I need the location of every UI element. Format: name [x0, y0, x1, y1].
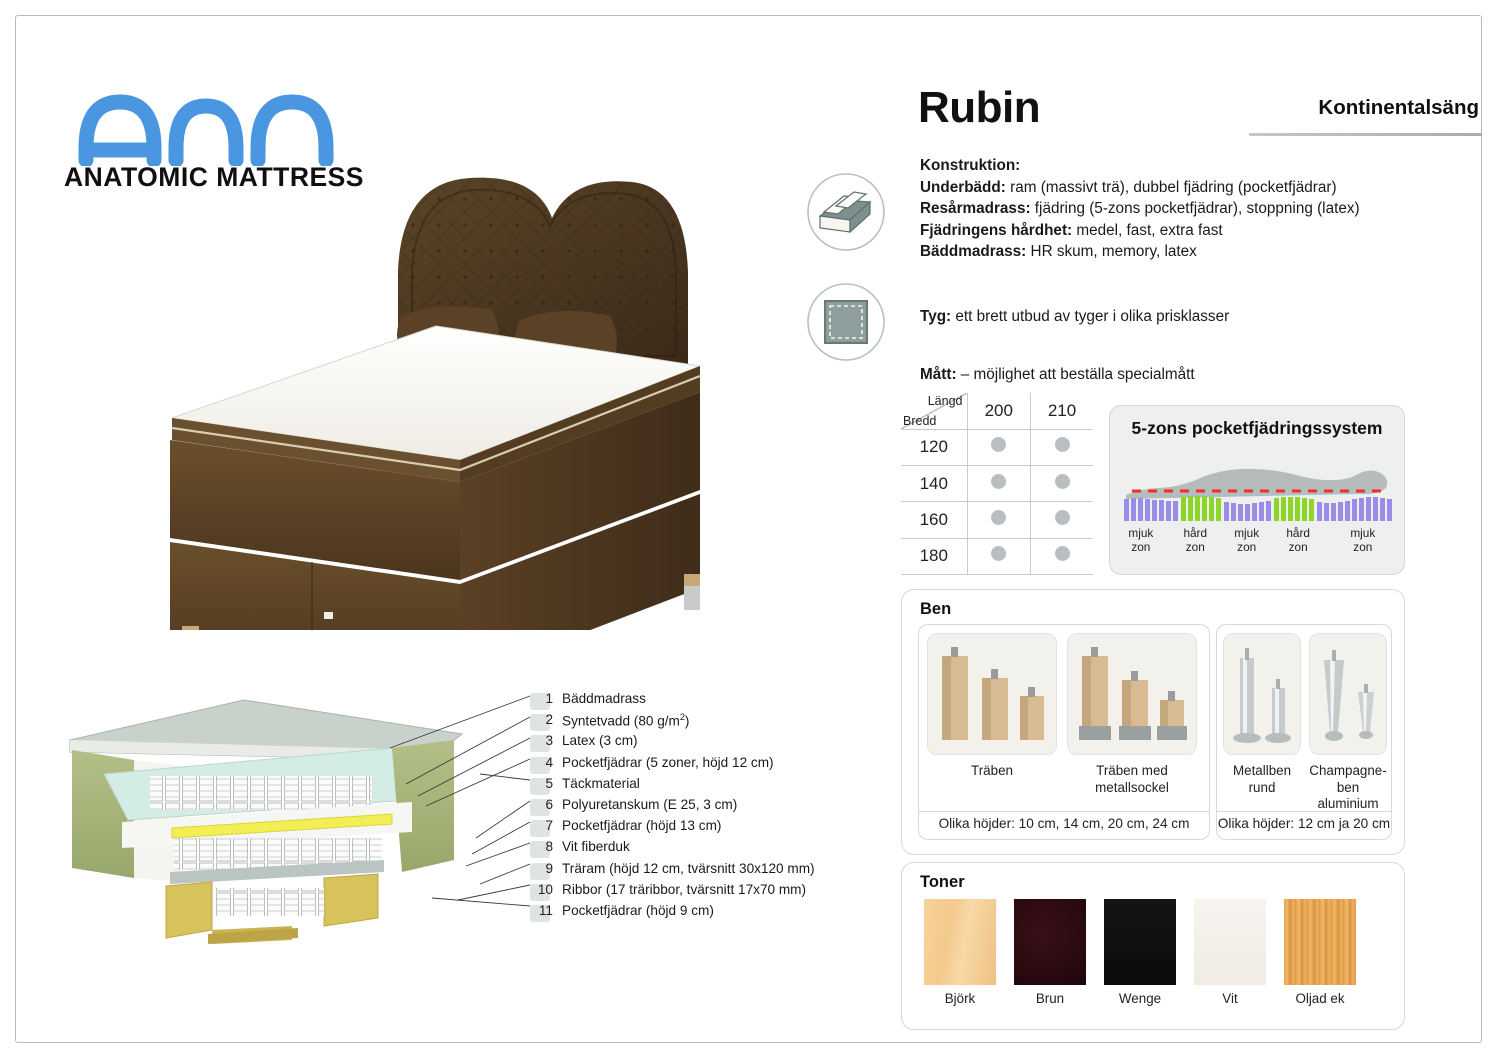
legend-number: 11 — [531, 903, 553, 918]
legend-text: Vit fiberduk — [562, 839, 630, 854]
five-zone-spring-panel: 5-zons pocketfjädringssystem — [1109, 405, 1405, 575]
spec-label: Bäddmadrass: — [920, 243, 1026, 260]
construction-heading: Konstruktion: — [920, 157, 1020, 174]
list-item: 8 Vit fiberduk — [531, 836, 891, 857]
tone-swatch — [1104, 899, 1176, 985]
zone-name: mjuk — [1234, 526, 1259, 540]
list-item: 4 Pocketfjädrar (5 zoner, höjd 12 cm) — [531, 752, 891, 773]
legend-number: 6 — [531, 797, 553, 812]
mattress-cutaway-diagram — [62, 682, 532, 972]
measures-spec: Mått: – möjlighet att beställa specialmå… — [920, 366, 1195, 384]
list-item: 2 Syntetvadd (80 g/m2) — [531, 709, 891, 730]
legend-text: Pocketfjädrar (höjd 13 cm) — [562, 818, 721, 833]
category-underline — [1249, 133, 1482, 136]
tone-swatch — [1194, 899, 1266, 985]
fabric-swatch-icon — [806, 282, 886, 362]
legend-text: Bäddmadrass — [562, 691, 646, 706]
cell-180-210 — [1031, 538, 1093, 574]
col-header-200: 200 — [967, 393, 1031, 429]
availability-dot — [1055, 474, 1070, 489]
row-label-140: 140 — [901, 466, 967, 502]
spring-bars — [1124, 496, 1392, 521]
zone-sub: zon — [1131, 540, 1150, 554]
tone-item-vit[interactable]: Vit — [1194, 899, 1266, 1006]
tone-label: Vit — [1194, 991, 1266, 1006]
cell-180-200 — [967, 538, 1031, 574]
tone-item-oljad-ek[interactable]: Oljad ek — [1284, 899, 1356, 1006]
legend-number: 3 — [531, 733, 553, 748]
zone-label-5: mjuk zon — [1322, 527, 1404, 554]
availability-dot — [1055, 437, 1070, 452]
leg-caption: Träben — [927, 763, 1057, 780]
legend-text: Pocketfjädrar (höjd 9 cm) — [562, 903, 714, 918]
length-header: Längd — [928, 394, 963, 408]
availability-dot — [1055, 546, 1070, 561]
legend-number: 9 — [531, 861, 553, 876]
cell-140-210 — [1031, 466, 1093, 502]
leg-caption-line: Träben med — [1096, 763, 1168, 778]
legend-number: 4 — [531, 755, 553, 770]
leg-caption: Champagne- ben aluminium — [1309, 763, 1387, 813]
tone-label: Björk — [924, 991, 996, 1006]
champagne-aluminium-leg-icon — [1309, 633, 1387, 755]
cell-140-200 — [967, 466, 1031, 502]
tone-swatch — [1284, 899, 1356, 985]
list-item: 10 Ribbor (17 träribbor, tvärsnitt 17x70… — [531, 879, 891, 900]
tone-swatch — [1014, 899, 1086, 985]
list-item: 6 Polyuretanskum (E 25, 3 cm) — [531, 794, 891, 815]
legs-heading: Ben — [920, 600, 1404, 619]
table-corner-cell: Längd Bredd — [901, 393, 967, 429]
legend-text: Latex (3 cm) — [562, 733, 638, 748]
tone-swatch — [924, 899, 996, 985]
legend-number: 1 — [531, 691, 553, 706]
spec-value: HR skum, memory, latex — [1031, 243, 1197, 260]
legend-text: Pocketfjädrar (5 zoner, höjd 12 cm) — [562, 755, 774, 770]
wooden-leg-metal-base-icon — [1067, 633, 1197, 755]
cell-120-210 — [1031, 429, 1093, 465]
list-item: 3 Latex (3 cm) — [531, 730, 891, 751]
list-item: 11 Pocketfjädrar (höjd 9 cm) — [531, 900, 891, 921]
leg-caption-line: Metallben — [1233, 763, 1291, 778]
body-silhouette — [1126, 469, 1387, 499]
zone-label-2: hård zon — [1172, 527, 1219, 554]
anatomic-mattress-arch-logo — [72, 88, 352, 166]
legend-text: Ribbor (17 träribbor, tvärsnitt 17x70 mm… — [562, 882, 806, 897]
zone-sub: zon — [1186, 540, 1205, 554]
leg-caption-line: aluminium — [1317, 796, 1378, 811]
leg-caption-line: ben — [1337, 780, 1359, 795]
fabric-label: Tyg: — [920, 308, 951, 325]
list-item: 7 Pocketfjädrar (höjd 13 cm) — [531, 815, 891, 836]
row-label-180: 180 — [901, 538, 967, 574]
wood-legs-heights: Olika höjder: 10 cm, 14 cm, 20 cm, 24 cm — [919, 811, 1209, 839]
table-row: 180 — [901, 538, 1093, 574]
fabric-spec: Tyg: ett brett utbud av tyger i olika pr… — [920, 308, 1229, 326]
availability-dot — [991, 474, 1006, 489]
legend-number: 10 — [531, 882, 553, 897]
cutaway-legend: 1 Bäddmadrass 2 Syntetvadd (80 g/m2) 3 L… — [531, 688, 891, 921]
legs-panel: Ben Träben — [901, 589, 1405, 855]
leg-caption-line: metallsockel — [1095, 780, 1169, 795]
zone-labels: mjuk zon hård zon mjuk zon hård zon mjuk… — [1110, 527, 1404, 554]
row-label-160: 160 — [901, 502, 967, 538]
width-header: Bredd — [903, 414, 936, 428]
page-title: Rubin — [918, 83, 1040, 133]
metal-legs-group: Metallben rund — [1216, 624, 1392, 840]
tones-heading: Toner — [920, 873, 1404, 892]
spec-value: medel, fast, extra fast — [1076, 222, 1222, 239]
fabric-value: ett brett utbud av tyger i olika priskla… — [955, 308, 1229, 325]
tones-panel: Toner Björk Brun Wenge Vit Oljad ek — [901, 862, 1405, 1030]
leg-caption-line: Träben — [971, 763, 1013, 778]
zone-name: hård — [1286, 526, 1310, 540]
wooden-leg-icon — [927, 633, 1057, 755]
list-item: 1 Bäddmadrass — [531, 688, 891, 709]
zone-panel-title: 5-zons pocketfjädringssystem — [1110, 418, 1404, 439]
availability-dot — [991, 510, 1006, 525]
construction-spec: Konstruktion: Underbädd: ram (massivt tr… — [920, 155, 1460, 263]
tone-label: Oljad ek — [1284, 991, 1356, 1006]
availability-dot — [991, 546, 1006, 561]
bed-product-photo — [140, 160, 765, 630]
spec-value: ram (massivt trä), dubbel fjädring (pock… — [1010, 179, 1336, 196]
leg-item-metallben-rund: Metallben rund — [1223, 633, 1301, 813]
spec-row-baddmadrass: Bäddmadrass: HR skum, memory, latex — [920, 241, 1460, 263]
zone-name: mjuk — [1128, 526, 1153, 540]
wood-legs-group: Träben — [918, 624, 1210, 840]
col-header-210: 210 — [1031, 393, 1093, 429]
cell-120-200 — [967, 429, 1031, 465]
product-category: Kontinentalsäng — [1318, 96, 1479, 120]
availability-dot — [1055, 510, 1070, 525]
cell-160-210 — [1031, 502, 1093, 538]
leg-caption: Metallben rund — [1223, 763, 1301, 796]
zone-name: hård — [1183, 526, 1207, 540]
mattress-layers-icon — [806, 172, 886, 252]
legend-text: Polyuretanskum (E 25, 3 cm) — [562, 797, 737, 812]
round-metal-leg-icon — [1223, 633, 1301, 755]
leg-item-traben: Träben — [927, 633, 1057, 796]
zone-diagram — [1110, 447, 1404, 525]
tone-label: Wenge — [1104, 991, 1176, 1006]
spec-value: fjädring (5-zons pocketfjädrar), stoppni… — [1035, 200, 1360, 217]
zone-label-3: mjuk zon — [1219, 527, 1275, 554]
table-header-row: Längd Bredd 200 210 — [901, 393, 1093, 429]
zone-sub: zon — [1237, 540, 1256, 554]
availability-dot — [991, 437, 1006, 452]
spec-label: Resårmadrass: — [920, 200, 1031, 217]
tone-swatch-list: Björk Brun Wenge Vit Oljad ek — [924, 899, 1356, 1006]
legend-number: 8 — [531, 839, 553, 854]
legend-number: 7 — [531, 818, 553, 833]
list-item: 5 Täckmaterial — [531, 773, 891, 794]
spec-label: Fjädringens hårdhet: — [920, 222, 1072, 239]
leg-item-traben-metallsockel: Träben med metallsockel — [1067, 633, 1197, 796]
zone-label-1: mjuk zon — [1110, 527, 1172, 554]
table-row: 160 — [901, 502, 1093, 538]
legend-number: 5 — [531, 776, 553, 791]
spec-label: Underbädd: — [920, 179, 1006, 196]
tone-label: Brun — [1014, 991, 1086, 1006]
zone-name: mjuk — [1350, 526, 1375, 540]
zone-sub: zon — [1289, 540, 1308, 554]
table-row: 140 — [901, 466, 1093, 502]
list-item: 9 Träram (höjd 12 cm, tvärsnitt 30x120 m… — [531, 858, 891, 879]
leg-caption-line: Champagne- — [1309, 763, 1386, 778]
measures-value: – möjlighet att beställa specialmått — [961, 366, 1195, 383]
zone-label-4: hård zon — [1275, 527, 1322, 554]
table-row: 120 — [901, 429, 1093, 465]
spec-row-fjadringens-hardhet: Fjädringens hårdhet: medel, fast, extra … — [920, 220, 1460, 242]
leg-caption-line: rund — [1249, 780, 1276, 795]
cell-160-200 — [967, 502, 1031, 538]
size-availability-table: Längd Bredd 200 210 120 140 160 180 — [901, 393, 1093, 575]
legend-text: Träram (höjd 12 cm, tvärsnitt 30x120 mm) — [562, 861, 815, 876]
spec-row-underbadd: Underbädd: ram (massivt trä), dubbel fjä… — [920, 177, 1460, 199]
tone-item-bjork[interactable]: Björk — [924, 899, 996, 1006]
zone-sub: zon — [1353, 540, 1372, 554]
metal-legs-heights: Olika höjder: 12 cm ja 20 cm — [1217, 811, 1391, 839]
legend-text: Täckmaterial — [562, 776, 640, 791]
row-label-120: 120 — [901, 429, 967, 465]
tone-item-wenge[interactable]: Wenge — [1104, 899, 1176, 1006]
spec-row-resarmadrass: Resårmadrass: fjädring (5-zons pocketfjä… — [920, 198, 1460, 220]
measures-label: Mått: — [920, 366, 957, 383]
legend-text: Syntetvadd (80 g/m2) — [562, 712, 689, 729]
tone-item-brun[interactable]: Brun — [1014, 899, 1086, 1006]
legend-number: 2 — [531, 712, 553, 727]
leg-caption: Träben med metallsockel — [1067, 763, 1197, 796]
leg-item-champagne: Champagne- ben aluminium — [1309, 633, 1387, 813]
